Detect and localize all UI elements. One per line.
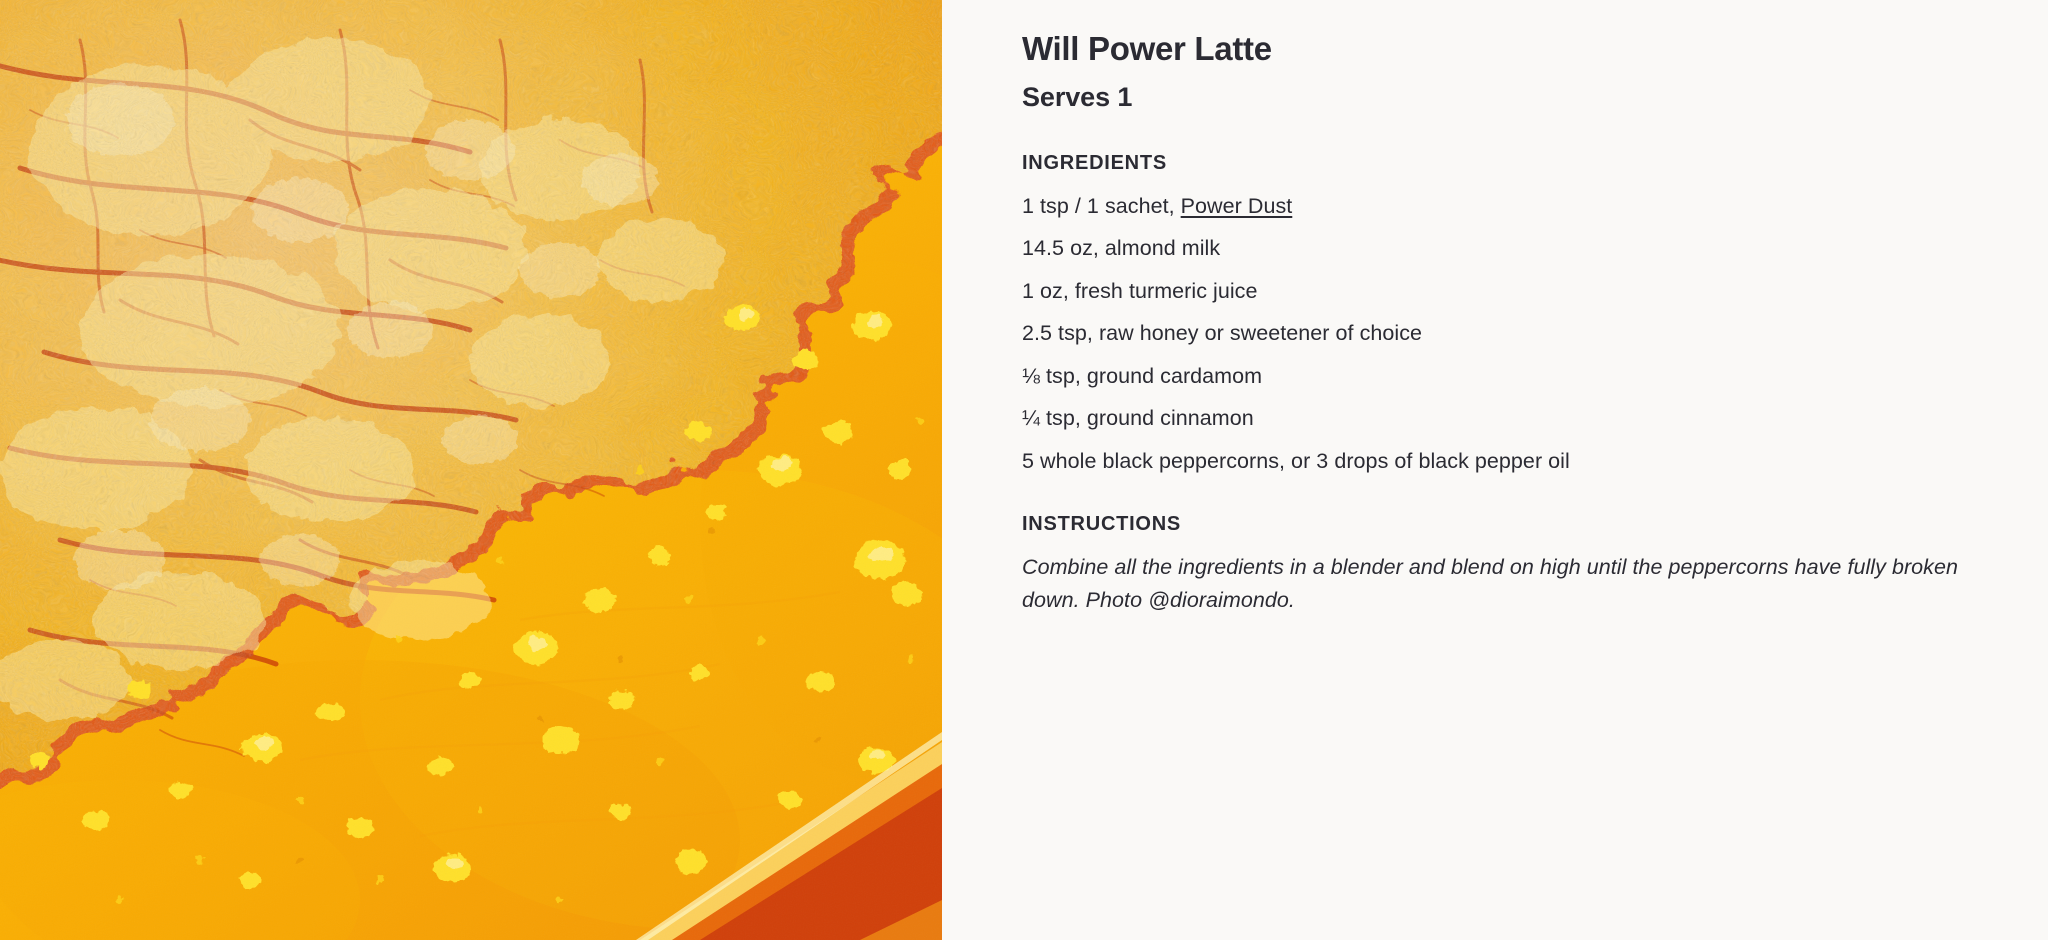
ingredient-item: 1 tsp / 1 sachet, Power Dust bbox=[1022, 190, 2000, 223]
ingredient-text: ⅛ tsp, ground cardamom bbox=[1022, 364, 1262, 388]
ingredient-text: 5 whole black peppercorns, or 3 drops of… bbox=[1022, 449, 1570, 473]
recipe-card: Will Power Latte Serves 1 INGREDIENTS 1 … bbox=[0, 0, 2048, 940]
recipe-title: Will Power Latte bbox=[1022, 28, 2000, 70]
ingredient-item: ¼ tsp, ground cinnamon bbox=[1022, 402, 2000, 435]
ingredient-text: 2.5 tsp, raw honey or sweetener of choic… bbox=[1022, 321, 1422, 345]
power-dust-link[interactable]: Power Dust bbox=[1181, 194, 1293, 218]
ingredients-heading: INGREDIENTS bbox=[1022, 150, 2000, 176]
ingredient-item: 5 whole black peppercorns, or 3 drops of… bbox=[1022, 445, 2000, 478]
recipe-text-panel: Will Power Latte Serves 1 INGREDIENTS 1 … bbox=[942, 0, 2048, 940]
ingredient-text: 1 tsp / 1 sachet, bbox=[1022, 194, 1181, 218]
ingredient-text: 1 oz, fresh turmeric juice bbox=[1022, 279, 1258, 303]
instructions-heading: INSTRUCTIONS bbox=[1022, 511, 2000, 537]
turmeric-photo-illustration bbox=[0, 0, 942, 940]
ingredient-text: 14.5 oz, almond milk bbox=[1022, 236, 1220, 260]
instructions-body: Combine all the ingredients in a blender… bbox=[1022, 551, 2000, 617]
ingredient-item: 1 oz, fresh turmeric juice bbox=[1022, 275, 2000, 308]
recipe-serves: Serves 1 bbox=[1022, 81, 2000, 115]
recipe-photo bbox=[0, 0, 942, 940]
ingredient-item: 2.5 tsp, raw honey or sweetener of choic… bbox=[1022, 317, 2000, 350]
ingredients-list: 1 tsp / 1 sachet, Power Dust 14.5 oz, al… bbox=[1022, 190, 2000, 478]
ingredient-text: ¼ tsp, ground cinnamon bbox=[1022, 406, 1254, 430]
ingredient-item: ⅛ tsp, ground cardamom bbox=[1022, 360, 2000, 393]
ingredient-item: 14.5 oz, almond milk bbox=[1022, 232, 2000, 265]
